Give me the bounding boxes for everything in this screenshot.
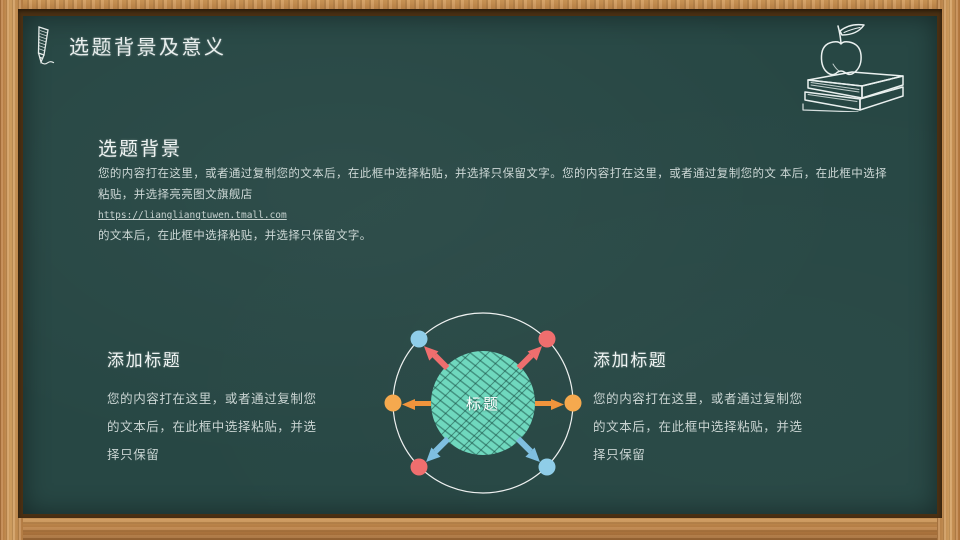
arrow-up-right: [515, 341, 547, 373]
arrow-down-right: [513, 435, 545, 467]
arrow-up-left: [421, 435, 453, 467]
node-bottom-right[interactable]: [539, 459, 556, 476]
slide-root: 选题背景及意义: [0, 0, 960, 540]
radial-diagram: 标题: [353, 278, 613, 514]
apple-on-books-icon: [789, 16, 915, 112]
node-right[interactable]: [565, 395, 582, 412]
radial-diagram-svg: [353, 278, 613, 514]
column-left-title: 添加标题: [107, 346, 319, 371]
column-right: 添加标题 您的内容打在这里，或者通过复制您的文本后，在此框中选择粘贴，并选择只保…: [593, 346, 805, 469]
section-heading: 选题背景: [98, 134, 182, 161]
node-left[interactable]: [385, 395, 402, 412]
column-right-title: 添加标题: [593, 346, 805, 371]
paragraph-line-3: 的文本后，在此框中选择粘贴，并选择只保留文字。: [98, 230, 372, 242]
section-paragraph: 您的内容打在这里，或者通过复制您的文本后，在此框中选择粘贴，并选择只保留文字。您…: [98, 164, 888, 247]
node-top-left[interactable]: [411, 331, 428, 348]
slide-header: 选题背景及意义: [35, 24, 227, 66]
arrow-left: [402, 399, 431, 410]
node-top-right[interactable]: [539, 331, 556, 348]
pencil-icon: [35, 24, 61, 66]
column-left-body: 您的内容打在这里，或者通过复制您的文本后，在此框中选择粘贴，并选择只保留: [107, 385, 319, 469]
arrow-down-left: [419, 341, 451, 373]
node-bottom-left[interactable]: [411, 459, 428, 476]
column-left: 添加标题 您的内容打在这里，或者通过复制您的文本后，在此框中选择粘贴，并选择只保…: [107, 346, 319, 469]
page-title: 选题背景及意义: [69, 31, 227, 60]
chalkboard: 选题背景及意义: [23, 16, 937, 514]
arrow-right: [535, 399, 564, 410]
column-right-body: 您的内容打在这里，或者通过复制您的文本后，在此框中选择粘贴，并选择只保留: [593, 385, 805, 469]
paragraph-line-1: 您的内容打在这里，或者通过复制您的文本后，在此框中选择粘贴，并选择只保留文字。您…: [98, 168, 776, 180]
tmall-store-link[interactable]: https://liangliangtuwen.tmall.com: [98, 206, 888, 226]
